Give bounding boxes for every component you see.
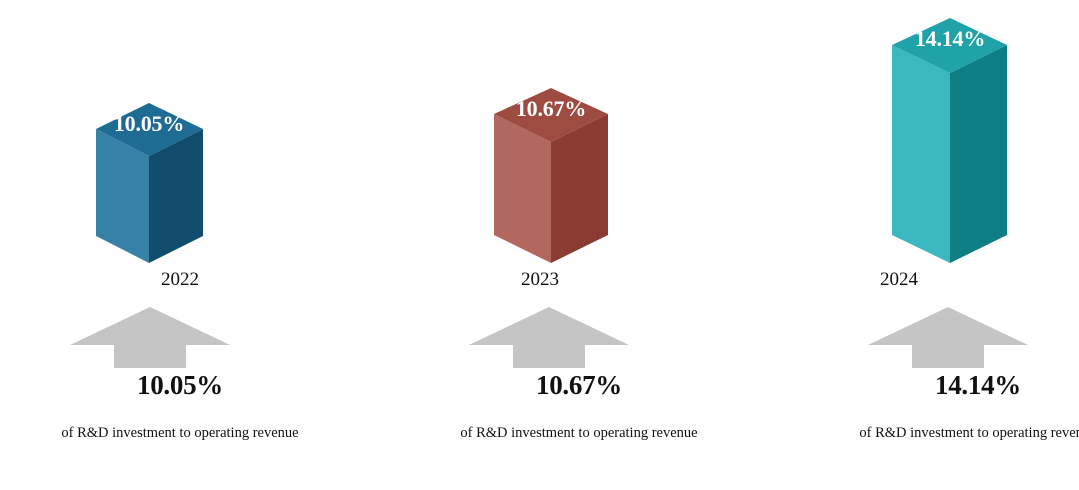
metric-caption-2023: of R&D investment to operating revenue bbox=[429, 424, 729, 443]
up-arrow-icon-2023 bbox=[360, 303, 720, 369]
bar-3d-2024-svg bbox=[719, 0, 1079, 270]
metric-value-2022: 10.05% bbox=[0, 372, 360, 399]
year-label-2023: 2023 bbox=[360, 269, 720, 291]
metric-column-2022: 10.05% 2022 10.05% of R&D investment to … bbox=[0, 0, 360, 490]
bar-3d-2022: 10.05% bbox=[0, 0, 360, 270]
bar-3d-2023: 10.67% bbox=[360, 0, 720, 270]
arrow-shape bbox=[868, 307, 1028, 368]
metric-column-2024: 14.14% 2024 14.14% of R&D investment to … bbox=[719, 0, 1079, 490]
bar-3d-2023-svg bbox=[360, 0, 720, 270]
metric-column-2023: 10.67% 2023 10.67% of R&D investment to … bbox=[360, 0, 720, 490]
bar-right-face bbox=[950, 45, 1007, 263]
bar-left-face bbox=[892, 45, 950, 263]
arrow-shape bbox=[469, 307, 629, 368]
bar-3d-2024: 14.14% bbox=[719, 0, 1079, 270]
metric-caption-2022: of R&D investment to operating revenue bbox=[30, 424, 330, 443]
up-arrow-icon-2024 bbox=[719, 303, 1079, 369]
metric-value-2024: 14.14% bbox=[798, 372, 1079, 399]
bar-3d-2022-svg bbox=[0, 0, 360, 270]
metric-caption-2024: of R&D investment to operating revenue bbox=[828, 424, 1079, 443]
up-arrow-icon-2022 bbox=[0, 303, 360, 369]
metric-value-2023: 10.67% bbox=[399, 372, 759, 399]
infographic-root: 10.05% 2022 10.05% of R&D investment to … bbox=[0, 0, 1079, 490]
year-label-2022: 2022 bbox=[0, 269, 360, 291]
arrow-shape bbox=[70, 307, 230, 368]
year-label-2024: 2024 bbox=[719, 269, 1079, 291]
